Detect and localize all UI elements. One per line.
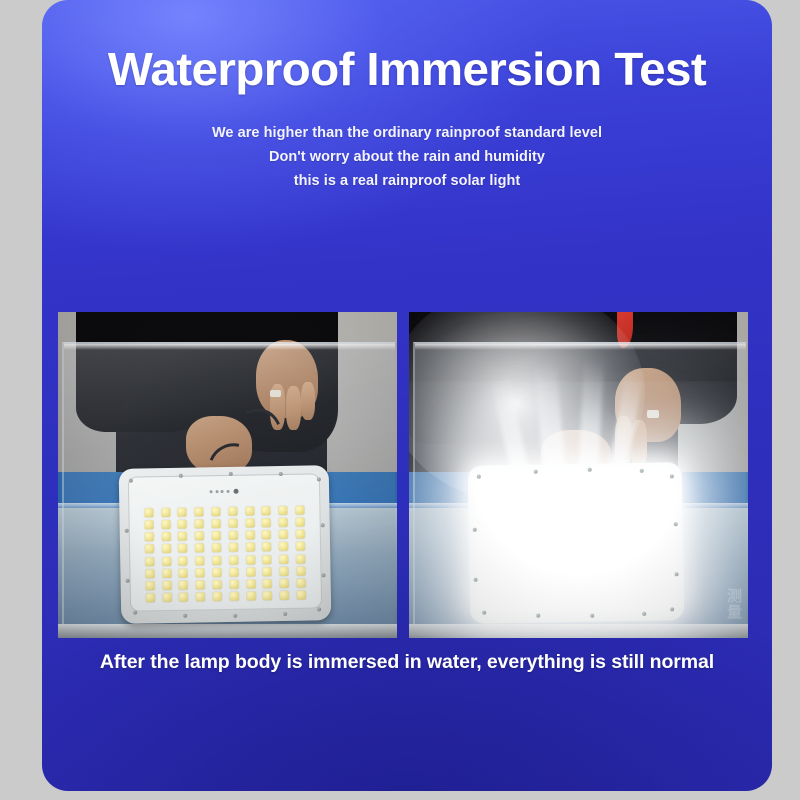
led-dot <box>213 580 222 589</box>
led-dot <box>279 506 288 515</box>
led-dot <box>230 580 239 589</box>
photo-gallery: 测量 <box>58 312 748 638</box>
led-dot <box>211 507 220 516</box>
led-dot <box>230 592 239 601</box>
led-dot <box>178 507 187 516</box>
led-dot <box>213 592 222 601</box>
led-dot <box>262 530 271 539</box>
led-dot <box>195 544 204 553</box>
led-dot <box>196 580 205 589</box>
led-dot <box>212 519 221 528</box>
led-dot <box>145 532 154 541</box>
led-dot <box>179 569 188 578</box>
led-dot <box>246 567 255 576</box>
subtitle-block: We are higher than the ordinary rainproo… <box>42 121 772 193</box>
led-dot <box>162 544 171 553</box>
led-dot <box>229 531 238 540</box>
led-dot <box>279 530 288 539</box>
tank-bottom-rail <box>409 624 748 638</box>
led-dot <box>295 505 304 514</box>
led-dot <box>228 506 237 515</box>
led-dot <box>178 544 187 553</box>
led-dot <box>263 579 272 588</box>
led-dot <box>246 580 255 589</box>
led-dot <box>296 530 305 539</box>
led-dot <box>280 579 289 588</box>
led-dot <box>263 592 272 601</box>
photo-lamp-lit-underwater: 测量 <box>409 312 748 638</box>
led-dot <box>145 557 154 566</box>
led-dot <box>146 594 155 603</box>
led-dot <box>280 567 289 576</box>
led-dot <box>262 518 271 527</box>
subtitle-line-1: We are higher than the ordinary rainproo… <box>42 121 772 145</box>
led-dot <box>279 555 288 564</box>
led-dot <box>161 508 170 517</box>
led-dot <box>263 555 272 564</box>
page-title: Waterproof Immersion Test <box>42 41 772 97</box>
led-dot <box>145 545 154 554</box>
led-dot <box>195 556 204 565</box>
led-dot <box>296 542 305 551</box>
led-dot <box>212 556 221 565</box>
photo-lamp-lowered-into-tank <box>58 312 397 638</box>
led-dot <box>296 517 305 526</box>
led-dot <box>262 506 271 515</box>
led-dot <box>195 531 204 540</box>
led-dot <box>145 569 154 578</box>
led-dot <box>296 554 305 563</box>
led-dot <box>179 593 188 602</box>
led-flood-light-on <box>468 462 685 624</box>
led-dot <box>179 581 188 590</box>
poster-root: Waterproof Immersion Test We are higher … <box>0 0 800 800</box>
led-dot <box>195 507 204 516</box>
led-dot <box>212 531 221 540</box>
led-dot <box>245 518 254 527</box>
led-dot <box>263 567 272 576</box>
lamp-lit-face <box>476 469 676 612</box>
led-dot <box>297 579 306 588</box>
led-dot <box>297 591 306 600</box>
led-dot <box>296 566 305 575</box>
led-dot <box>178 520 187 529</box>
tank-bottom-rail <box>58 624 397 638</box>
led-dot <box>246 555 255 564</box>
led-dot <box>178 532 187 541</box>
led-dot <box>162 581 171 590</box>
led-dot <box>246 543 255 552</box>
led-dot <box>245 506 254 515</box>
led-dot <box>179 556 188 565</box>
led-array <box>140 504 310 605</box>
led-dot <box>146 581 155 590</box>
led-dot <box>212 568 221 577</box>
led-dot <box>280 591 289 600</box>
led-dot <box>229 568 238 577</box>
led-flood-light-off <box>119 465 332 624</box>
led-dot <box>229 555 238 564</box>
subtitle-line-2: Don't worry about the rain and humidity <box>42 145 772 169</box>
sensor-indicator-strip <box>210 489 239 495</box>
led-dot <box>228 519 237 528</box>
led-dot <box>163 593 172 602</box>
led-dot <box>279 542 288 551</box>
led-dot <box>144 520 153 529</box>
blue-panel-card: Waterproof Immersion Test We are higher … <box>42 0 772 791</box>
led-dot <box>196 593 205 602</box>
caption-text: After the lamp body is immersed in water… <box>42 651 772 674</box>
led-dot <box>229 543 238 552</box>
led-dot <box>262 543 271 552</box>
led-dot <box>195 519 204 528</box>
led-dot <box>161 532 170 541</box>
led-dot <box>212 543 221 552</box>
led-dot <box>196 568 205 577</box>
led-dot <box>247 592 256 601</box>
led-dot <box>144 508 153 517</box>
led-dot <box>279 518 288 527</box>
led-dot <box>162 569 171 578</box>
subtitle-line-3: this is a real rainproof solar light <box>42 169 772 193</box>
led-dot <box>162 557 171 566</box>
led-dot <box>245 531 254 540</box>
led-dot <box>161 520 170 529</box>
